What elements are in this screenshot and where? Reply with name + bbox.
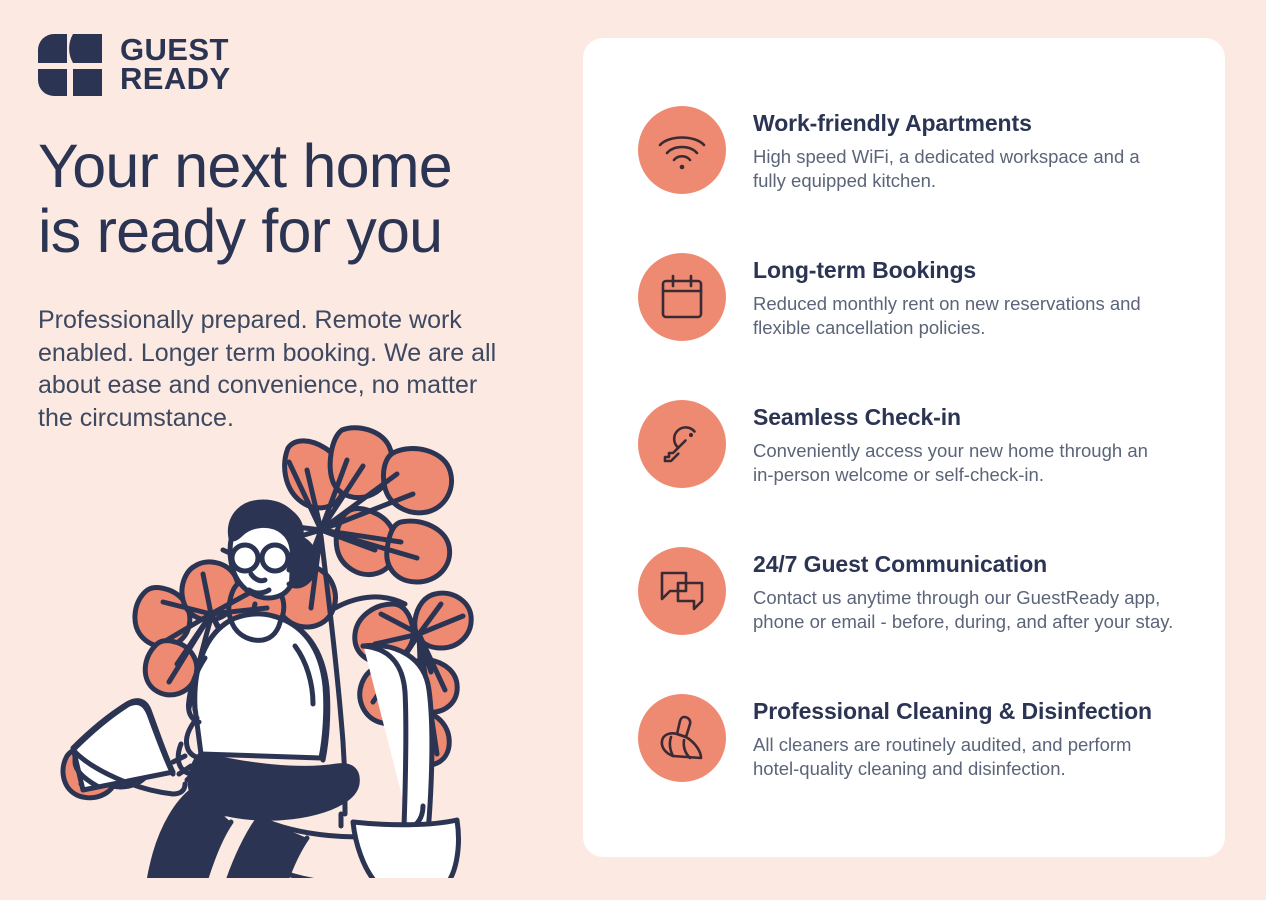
feature-title: Work-friendly Apartments (753, 110, 1140, 138)
page-title: Your next home is ready for you (38, 134, 548, 263)
feature-text: Long-term Bookings Reduced monthly rent … (753, 251, 1141, 341)
feature-title: Professional Cleaning & Disinfection (753, 698, 1152, 726)
feature-description: Reduced monthly rent on new reservations… (753, 292, 1141, 341)
feature-text: 24/7 Guest Communication Contact us anyt… (753, 545, 1173, 635)
wifi-icon (638, 106, 726, 194)
calendar-icon (638, 253, 726, 341)
broom-icon (638, 694, 726, 782)
feature-item-long-term-bookings[interactable]: Long-term Bookings Reduced monthly rent … (583, 251, 1225, 341)
brand-wordmark: GUEST READY (120, 36, 231, 93)
feature-description: All cleaners are routinely audited, and … (753, 733, 1152, 782)
feature-description: Conveniently access your new home throug… (753, 439, 1148, 488)
brand-logo[interactable]: GUEST READY (38, 30, 548, 100)
features-card: Work-friendly Apartments High speed WiFi… (583, 38, 1225, 857)
hero-column: GUEST READY Your next home is ready for … (38, 30, 548, 459)
hero-subcopy: Professionally prepared. Remote work ena… (38, 304, 518, 434)
feature-text: Seamless Check-in Conveniently access yo… (753, 398, 1148, 488)
feature-item-work-friendly-apartments[interactable]: Work-friendly Apartments High speed WiFi… (583, 104, 1225, 194)
feature-title: 24/7 Guest Communication (753, 551, 1173, 579)
feature-list: Work-friendly Apartments High speed WiFi… (583, 104, 1225, 782)
feature-text: Professional Cleaning & Disinfection All… (753, 692, 1152, 782)
feature-item-guest-communication[interactable]: 24/7 Guest Communication Contact us anyt… (583, 545, 1225, 635)
feature-description: High speed WiFi, a dedicated workspace a… (753, 145, 1140, 194)
feature-title: Seamless Check-in (753, 404, 1148, 432)
guestready-quadrant-logo-icon (38, 34, 104, 96)
marketing-page: GUEST READY Your next home is ready for … (0, 0, 1266, 900)
brand-name-line2: READY (120, 65, 231, 94)
feature-text: Work-friendly Apartments High speed WiFi… (753, 104, 1140, 194)
feature-item-professional-cleaning[interactable]: Professional Cleaning & Disinfection All… (583, 692, 1225, 782)
feature-title: Long-term Bookings (753, 257, 1141, 285)
key-icon (638, 400, 726, 488)
chat-bubbles-icon (638, 547, 726, 635)
feature-description: Contact us anytime through our GuestRead… (753, 586, 1173, 635)
feature-item-seamless-check-in[interactable]: Seamless Check-in Conveniently access yo… (583, 398, 1225, 488)
hero-illustration (45, 418, 515, 878)
